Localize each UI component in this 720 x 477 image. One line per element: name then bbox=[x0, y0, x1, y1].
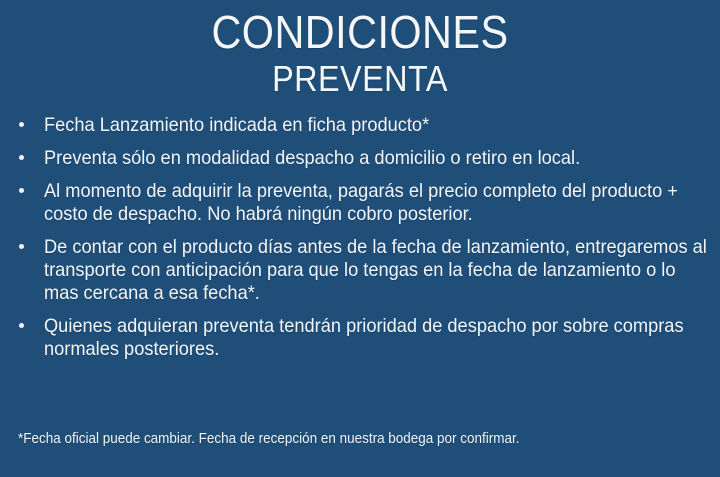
list-item: De contar con el producto días antes de … bbox=[16, 236, 708, 305]
conditions-list: Fecha Lanzamiento indicada en ficha prod… bbox=[16, 114, 708, 361]
footnote-label: *Fecha oficial puede cambiar. Fecha de r… bbox=[18, 430, 708, 449]
list-item: Fecha Lanzamiento indicada en ficha prod… bbox=[16, 114, 708, 137]
page-title: CONDICIONES bbox=[36, 6, 684, 58]
title-block: CONDICIONES PREVENTA bbox=[0, 6, 720, 100]
list-item-label: De contar con el producto días antes de … bbox=[44, 236, 708, 305]
list-item-label: Quienes adquieran preventa tendrán prior… bbox=[44, 315, 708, 361]
bullet-dot-icon bbox=[19, 188, 24, 193]
bullet-dot-icon bbox=[19, 155, 24, 160]
list-item-label: Al momento de adquirir la preventa, paga… bbox=[44, 180, 708, 226]
list-item: Al momento de adquirir la preventa, paga… bbox=[16, 180, 708, 226]
footnote: *Fecha oficial puede cambiar. Fecha de r… bbox=[18, 430, 708, 449]
bullet-dot-icon bbox=[19, 323, 24, 328]
conditions-slide: CONDICIONES PREVENTA Fecha Lanzamiento i… bbox=[0, 0, 720, 477]
page-subtitle: PREVENTA bbox=[36, 58, 684, 100]
bullet-dot-icon bbox=[19, 244, 24, 249]
list-item-label: Preventa sólo en modalidad despacho a do… bbox=[44, 147, 708, 170]
list-item: Quienes adquieran preventa tendrán prior… bbox=[16, 315, 708, 361]
bullet-dot-icon bbox=[19, 122, 24, 127]
list-item-label: Fecha Lanzamiento indicada en ficha prod… bbox=[44, 114, 708, 137]
list-item: Preventa sólo en modalidad despacho a do… bbox=[16, 147, 708, 170]
